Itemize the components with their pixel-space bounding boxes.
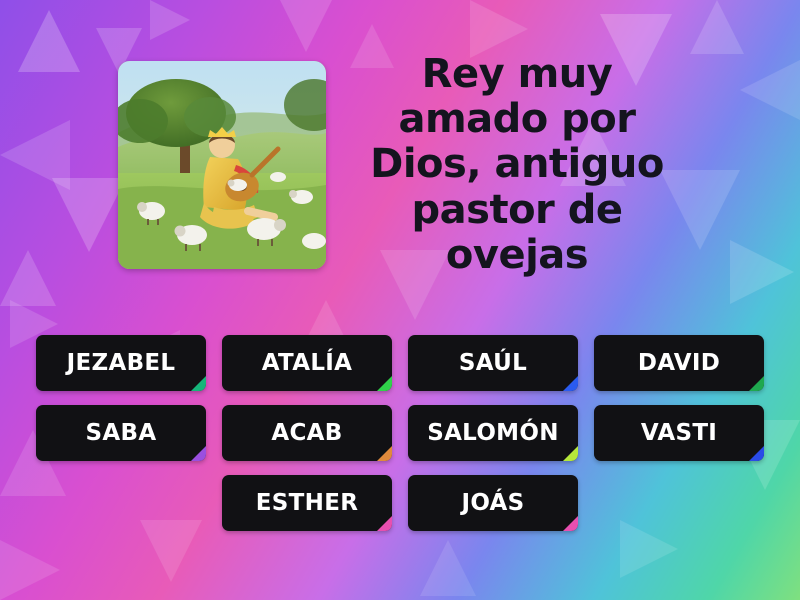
answer-label: ACAB xyxy=(271,420,342,446)
question-text: Rey muy amado por Dios, antiguo pastor d… xyxy=(352,52,682,278)
answer-option[interactable]: ATALÍA xyxy=(222,335,392,391)
answer-label: JEZABEL xyxy=(67,350,176,376)
answer-label: DAVID xyxy=(638,350,720,376)
answer-corner-marker xyxy=(377,446,392,461)
answer-corner-marker xyxy=(749,376,764,391)
answer-corner-marker xyxy=(191,376,206,391)
answer-option[interactable]: ESTHER xyxy=(222,475,392,531)
answer-option[interactable]: VASTI xyxy=(594,405,764,461)
answer-label: SALOMÓN xyxy=(427,420,559,446)
answer-label: SABA xyxy=(86,420,157,446)
answer-label: ATALÍA xyxy=(262,350,353,376)
answer-option[interactable]: ACAB xyxy=(222,405,392,461)
answer-option[interactable]: DAVID xyxy=(594,335,764,391)
answer-option[interactable]: JOÁS xyxy=(408,475,578,531)
answer-row: JEZABELATALÍASAÚLDAVID xyxy=(0,335,800,391)
quiz-content: Rey muy amado por Dios, antiguo pastor d… xyxy=(0,0,800,600)
answer-label: ESTHER xyxy=(256,490,358,516)
answer-row: ESTHERJOÁS xyxy=(0,475,800,531)
answer-option[interactable]: SAÚL xyxy=(408,335,578,391)
answer-corner-marker xyxy=(563,376,578,391)
answer-corner-marker xyxy=(563,446,578,461)
answer-corner-marker xyxy=(377,516,392,531)
answer-label: JOÁS xyxy=(461,490,524,516)
answer-row: SABAACABSALOMÓNVASTI xyxy=(0,405,800,461)
answers-grid: JEZABELATALÍASAÚLDAVIDSABAACABSALOMÓNVAS… xyxy=(0,335,800,545)
quiz-stage: Rey muy amado por Dios, antiguo pastor d… xyxy=(0,0,800,600)
answer-corner-marker xyxy=(191,446,206,461)
answer-label: SAÚL xyxy=(459,350,527,376)
answer-corner-marker xyxy=(749,446,764,461)
answer-corner-marker xyxy=(563,516,578,531)
answer-option[interactable]: SALOMÓN xyxy=(408,405,578,461)
answer-option[interactable]: SABA xyxy=(36,405,206,461)
question-area: Rey muy amado por Dios, antiguo pastor d… xyxy=(0,0,800,330)
answer-corner-marker xyxy=(377,376,392,391)
answer-option[interactable]: JEZABEL xyxy=(36,335,206,391)
answer-label: VASTI xyxy=(641,420,717,446)
question-image xyxy=(118,61,326,269)
